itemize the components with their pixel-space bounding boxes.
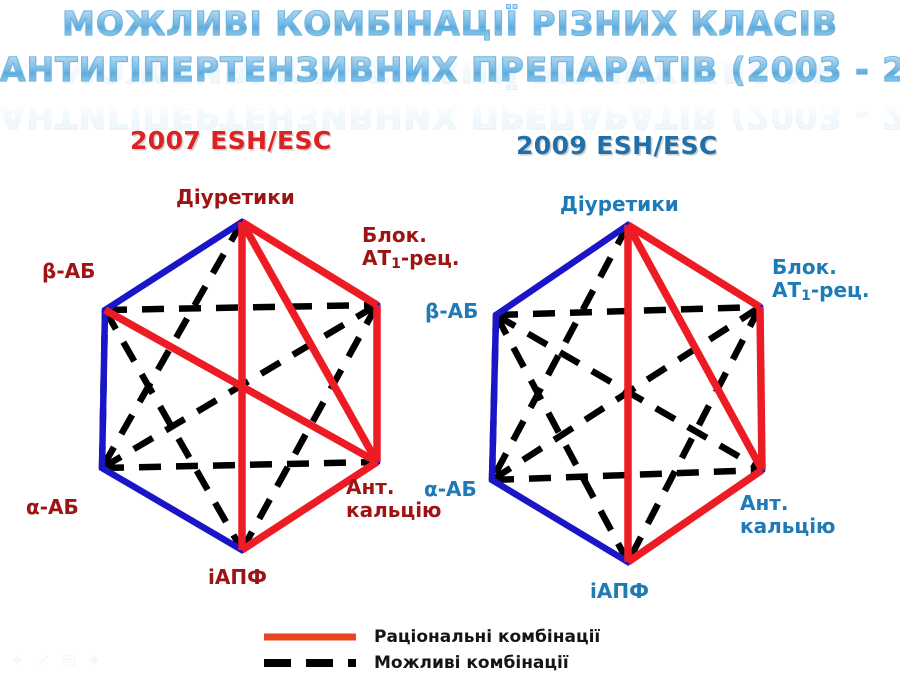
title-line-1: МОЖЛИВІ КОМБІНАЦІЇ РІЗНИХ КЛАСІВ xyxy=(0,4,900,44)
pen-icon[interactable] xyxy=(34,652,51,669)
title-line-1-reflection-text: МОЖЛИВІ КОМБІНАЦІЇ РІЗНИХ КЛАСІВ xyxy=(0,50,900,90)
arb-label-subscript: 1 xyxy=(801,288,811,304)
title-line-1-wrap: МОЖЛИВІ КОМБІНАЦІЇ РІЗНИХ КЛАСІВ МОЖЛИВІ… xyxy=(0,4,900,50)
node-label-diuretics-2007: Діуретики xyxy=(176,186,295,209)
node-label-beta-blocker-2007: β-АБ xyxy=(42,260,95,283)
rational-arb-ccb xyxy=(760,307,762,470)
legend: Раціональні комбінації Можливі комбінаці… xyxy=(262,624,600,676)
node-label-acei-2007: іАПФ xyxy=(208,566,267,589)
ccb-label-line1: Ант. xyxy=(346,475,395,499)
legend-row-possible: Можливі комбінації xyxy=(262,650,600,676)
slide-title: МОЖЛИВІ КОМБІНАЦІЇ РІЗНИХ КЛАСІВ МОЖЛИВІ… xyxy=(0,4,900,96)
previous-arrow-icon[interactable] xyxy=(8,652,25,669)
ccb-label-line1: Ант. xyxy=(740,491,789,515)
menu-icon[interactable] xyxy=(60,652,77,669)
node-label-acei-2009: іАПФ xyxy=(590,580,649,603)
arb-label-line1: Блок. xyxy=(362,223,427,247)
title-line-2-wrap: АНТИГІПЕРТЕНЗИВНИХ ПРЕПАРАТІВ (2003 - 20… xyxy=(0,50,900,96)
node-label-alpha-blocker-2007: α-АБ xyxy=(26,496,79,519)
node-label-beta-blocker-2009: β-АБ xyxy=(425,300,478,323)
legend-solid-line-swatch xyxy=(262,627,358,647)
ccb-label-line2: кальцію xyxy=(346,498,442,522)
panel-heading-2009: 2009 ESH/ESC xyxy=(516,131,718,160)
slideshow-controls[interactable] xyxy=(8,652,103,669)
arb-label-line2-pre: АТ xyxy=(772,278,801,302)
legend-row-rational: Раціональні комбінації xyxy=(262,624,600,650)
panel-heading-2007: 2007 ESH/ESC xyxy=(130,126,332,155)
title-line-2: АНТИГІПЕРТЕНЗИВНИХ ПРЕПАРАТІВ (2003 - 20… xyxy=(0,50,900,90)
node-label-ccb-2009: Ант. кальцію xyxy=(740,492,836,538)
node-label-diuretics-2009: Діуретики xyxy=(560,193,679,216)
node-label-arb-2009: Блок. АТ1-рец. xyxy=(772,256,869,308)
arb-label-line1: Блок. xyxy=(772,255,837,279)
legend-label-rational: Раціональні комбінації xyxy=(374,627,600,647)
title-line-1-reflection: МОЖЛИВІ КОМБІНАЦІЇ РІЗНИХ КЛАСІВ xyxy=(0,50,900,90)
next-arrow-icon[interactable] xyxy=(86,652,103,669)
legend-label-possible: Можливі комбінації xyxy=(374,653,569,673)
ccb-label-line2: кальцію xyxy=(740,514,836,538)
arb-label-subscript: 1 xyxy=(391,256,401,272)
arb-label-line2-post: -рец. xyxy=(811,278,870,302)
node-label-alpha-blocker-2009: α-АБ xyxy=(424,478,477,501)
arb-label-line2-pre: АТ xyxy=(362,246,391,270)
legend-dashed-line-swatch xyxy=(262,653,358,673)
